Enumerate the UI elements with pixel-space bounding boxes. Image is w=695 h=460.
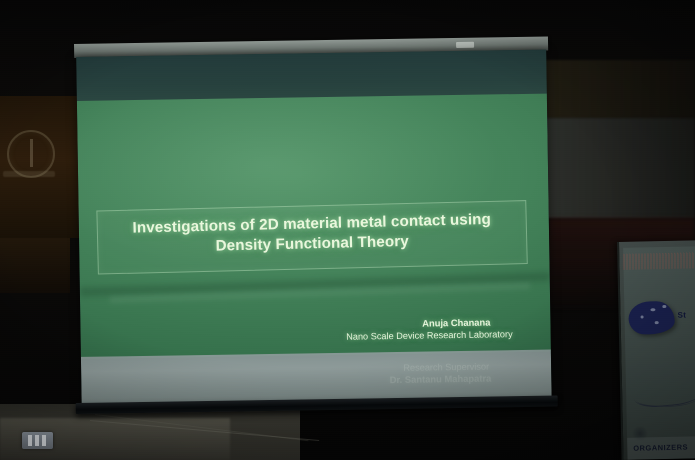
switch-toggle-2[interactable] xyxy=(35,435,39,446)
poster-blob-spot-3 xyxy=(641,315,644,318)
slide-title-line2: Functional Theory xyxy=(275,233,409,253)
switch-toggle-3[interactable] xyxy=(42,435,46,446)
poster-blob-spot-1 xyxy=(650,308,655,311)
presentation-scene: Investigations of 2D material metal cont… xyxy=(0,0,695,460)
poster-blob-spot-4 xyxy=(655,321,659,324)
poster-blob-spot-2 xyxy=(662,305,666,308)
light-switch-plate[interactable] xyxy=(22,432,53,449)
institute-crest-base xyxy=(3,171,55,177)
screen-surface: Investigations of 2D material metal cont… xyxy=(76,50,551,405)
wall-light-strip xyxy=(545,118,695,218)
wall-poster: St ORGANIZERS xyxy=(617,240,695,460)
poster-zigzag-graphic xyxy=(623,252,695,270)
poster-map-blob-icon xyxy=(628,301,675,335)
projected-slide: Investigations of 2D material metal cont… xyxy=(77,94,551,359)
wood-panel-left-lower xyxy=(0,238,70,293)
slide-title-box: Investigations of 2D material metal cont… xyxy=(96,200,527,274)
poster-organizers-label: ORGANIZERS xyxy=(633,443,688,453)
wall-upper-strip xyxy=(545,60,695,118)
projection-screen: Investigations of 2D material metal cont… xyxy=(74,37,554,422)
poster-partial-text: St xyxy=(677,311,686,320)
slide-title: Investigations of 2D material metal cont… xyxy=(98,209,527,259)
switch-toggle-1[interactable] xyxy=(28,435,32,446)
